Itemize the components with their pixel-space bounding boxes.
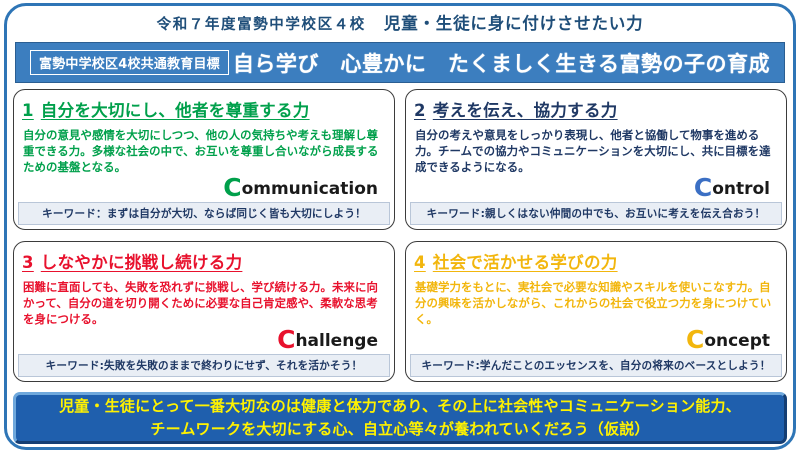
card-3-word-capital: C [277,325,295,354]
card-4-keyword-strip: キーワード:学んだことのエッセンスを、自分の将来のベースとしよう！ [410,354,782,377]
card-1-heading: 1自分を大切にし、他者を尊重する力 [22,97,394,121]
card-2-word-rest: ontrol [712,179,770,199]
conclusion-banner: 児童・生徒にとって一番大切なのは健康と体力であり、その上に社会性やコミュニケーシ… [13,392,787,444]
conclusion-line-1: 児童・生徒にとって一番大切なのは健康と体力であり、その上に社会性やコミュニケーシ… [59,395,741,418]
card-4-heading: 4社会で活かせる学びの力 [414,249,786,273]
conclusion-line-2: チームワークを大切にする心、自立心等々が養われていくだろう（仮説） [150,418,649,441]
title-main: 児童・生徒に身に付けさせたい力 [384,14,644,33]
card-1-keyword-word: Communication [223,177,378,200]
card-1-keyword-strip: キーワード：まずは自分が大切、ならば同じく皆も大切にしよう！ [18,202,390,225]
card-2-heading: 2考えを伝え、協力する力 [414,97,786,121]
card-3-number: 3 [22,253,34,272]
ability-card-4: 4社会で活かせる学びの力 基礎学力をもとに、実社会で必要な知識やスキルを使いこな… [405,241,787,382]
card-2-keyword-word: Control [694,177,770,200]
ability-card-grid: 1自分を大切にし、他者を尊重する力 自分の意見や感情を大切にしつつ、他の人の気持… [13,89,787,385]
card-4-number: 4 [414,253,426,272]
card-3-body: 困難に直面しても、失敗を恐れずに挑戦し、学び続ける力。未来に向かって、自分の道を… [23,279,385,328]
goal-banner-text: 自ら学び 心豊かに たくましく生きる富勢の子の育成 [229,48,774,78]
card-2-number: 2 [414,101,426,120]
page-title: 令和７年度富勢中学校区４校児童・生徒に身に付けさせたい力 [0,10,800,34]
card-1-body: 自分の意見や感情を大切にしつつ、他の人の気持ちや考えも理解し尊重できる力。多様な… [23,127,385,176]
title-year-school: 令和７年度富勢中学校区４校 [157,17,366,33]
card-4-word-capital: C [686,325,704,354]
common-education-goal-banner: 富勢中学校区4校共通教育目標 自ら学び 心豊かに たくましく生きる富勢の子の育成 [15,42,785,83]
card-1-number: 1 [22,101,34,120]
poster-root: 令和７年度富勢中学校区４校児童・生徒に身に付けさせたい力 富勢中学校区4校共通教… [0,0,800,453]
card-2-title: 考えを伝え、協力する力 [433,101,618,120]
card-3-word-rest: hallenge [295,331,378,351]
goal-banner-tag: 富勢中学校区4校共通教育目標 [30,50,229,75]
card-3-heading: 3しなやかに挑戦し続ける力 [22,249,394,273]
card-1-title: 自分を大切にし、他者を尊重する力 [41,101,310,120]
card-2-keyword-strip: キーワード:親しくはない仲間の中でも、お互いに考えを伝え合おう！ [410,202,782,225]
card-1-word-capital: C [223,173,241,202]
card-4-body: 基礎学力をもとに、実社会で必要な知識やスキルを使いこなす力。自分の興味を活かしな… [415,279,777,328]
ability-card-3: 3しなやかに挑戦し続ける力 困難に直面しても、失敗を恐れずに挑戦し、学び続ける力… [13,241,395,382]
ability-card-1: 1自分を大切にし、他者を尊重する力 自分の意見や感情を大切にしつつ、他の人の気持… [13,89,395,230]
card-3-keyword-word: Challenge [277,329,378,352]
card-3-title: しなやかに挑戦し続ける力 [41,253,243,272]
ability-card-2: 2考えを伝え、協力する力 自分の考えや意見をしっかり表現し、他者と協働して物事を… [405,89,787,230]
card-4-word-rest: oncept [704,331,770,351]
card-4-title: 社会で活かせる学びの力 [433,253,618,272]
card-1-word-rest: ommunication [242,179,378,199]
card-2-word-capital: C [694,173,712,202]
card-4-keyword-word: Concept [686,329,770,352]
card-2-body: 自分の考えや意見をしっかり表現し、他者と協働して物事を進める力。チームでの協力や… [415,127,777,176]
card-3-keyword-strip: キーワード:失敗を失敗のままで終わりにせず、それを活かそう！ [18,354,390,377]
